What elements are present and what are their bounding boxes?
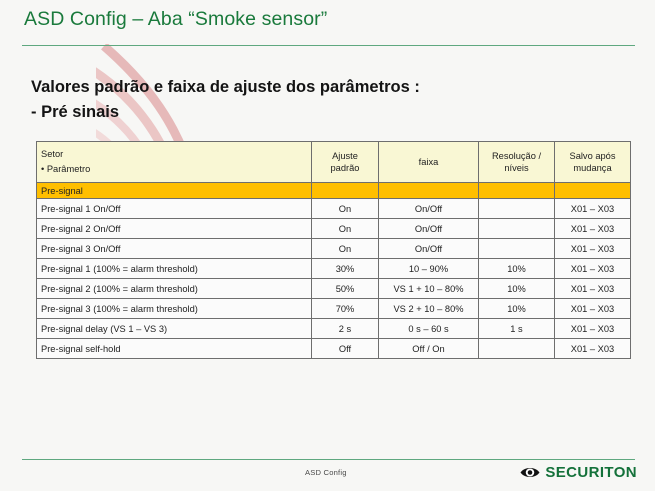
section-filler-saved xyxy=(555,183,631,199)
cell-saved: X01 – X03 xyxy=(555,299,631,319)
cell-resolution xyxy=(479,219,555,239)
cell-resolution: 10% xyxy=(479,299,555,319)
subtitle-line-2: - Pré sinais xyxy=(31,100,420,125)
table-row: Pre-signal 2 (100% = alarm threshold)50%… xyxy=(37,279,631,299)
cell-saved: X01 – X03 xyxy=(555,199,631,219)
table-section-row: Pre-signal xyxy=(37,183,631,199)
cell-parameter: Pre-signal 1 On/Off xyxy=(37,199,312,219)
subtitle-line-1: Valores padrão e faixa de ajuste dos par… xyxy=(31,75,420,100)
column-header-saved-line-1: Salvo após xyxy=(559,150,626,163)
cell-resolution: 1 s xyxy=(479,319,555,339)
cell-saved: X01 – X03 xyxy=(555,259,631,279)
cell-range: 0 s – 60 s xyxy=(379,319,479,339)
title-divider xyxy=(22,45,635,46)
cell-saved: X01 – X03 xyxy=(555,239,631,259)
cell-range: VS 2 + 10 – 80% xyxy=(379,299,479,319)
cell-default: On xyxy=(312,239,379,259)
cell-saved: X01 – X03 xyxy=(555,219,631,239)
cell-resolution: 10% xyxy=(479,259,555,279)
cell-default: 70% xyxy=(312,299,379,319)
column-header-parameter: Setor • Parâmetro xyxy=(37,142,312,183)
column-header-parameter-line-2: • Parâmetro xyxy=(41,162,307,177)
cell-range: Off / On xyxy=(379,339,479,359)
cell-range: On/Off xyxy=(379,239,479,259)
cell-default: 2 s xyxy=(312,319,379,339)
column-header-default-line-1: Ajuste xyxy=(316,150,374,163)
column-header-default: Ajuste padrão xyxy=(312,142,379,183)
cell-default: On xyxy=(312,199,379,219)
cell-resolution xyxy=(479,199,555,219)
table-row: Pre-signal 1 On/OffOnOn/OffX01 – X03 xyxy=(37,199,631,219)
table-row: Pre-signal delay (VS 1 – VS 3)2 s0 s – 6… xyxy=(37,319,631,339)
section-filler-default xyxy=(312,183,379,199)
footer-label: ASD Config xyxy=(305,468,347,477)
cell-parameter: Pre-signal 2 (100% = alarm threshold) xyxy=(37,279,312,299)
column-header-saved: Salvo após mudança xyxy=(555,142,631,183)
cell-default: 30% xyxy=(312,259,379,279)
table-row: Pre-signal 2 On/OffOnOn/OffX01 – X03 xyxy=(37,219,631,239)
table-row: Pre-signal 1 (100% = alarm threshold)30%… xyxy=(37,259,631,279)
subtitle-block: Valores padrão e faixa de ajuste dos par… xyxy=(31,75,420,125)
parameter-table: Setor • Parâmetro Ajuste padrão faixa Re… xyxy=(36,141,631,359)
cell-default: 50% xyxy=(312,279,379,299)
cell-saved: X01 – X03 xyxy=(555,339,631,359)
table-row: Pre-signal 3 On/OffOnOn/OffX01 – X03 xyxy=(37,239,631,259)
cell-range: 10 – 90% xyxy=(379,259,479,279)
cell-resolution: 10% xyxy=(479,279,555,299)
table-header-row: Setor • Parâmetro Ajuste padrão faixa Re… xyxy=(37,142,631,183)
column-header-resolution: Resolução / níveis xyxy=(479,142,555,183)
cell-default: On xyxy=(312,219,379,239)
cell-parameter: Pre-signal delay (VS 1 – VS 3) xyxy=(37,319,312,339)
section-label: Pre-signal xyxy=(37,183,312,199)
cell-default: Off xyxy=(312,339,379,359)
cell-parameter: Pre-signal 2 On/Off xyxy=(37,219,312,239)
section-filler-resolution xyxy=(479,183,555,199)
column-header-saved-line-2: mudança xyxy=(559,162,626,175)
cell-saved: X01 – X03 xyxy=(555,319,631,339)
cell-parameter: Pre-signal 1 (100% = alarm threshold) xyxy=(37,259,312,279)
column-header-range: faixa xyxy=(379,142,479,183)
cell-range: On/Off xyxy=(379,199,479,219)
cell-range: On/Off xyxy=(379,219,479,239)
cell-parameter: Pre-signal 3 On/Off xyxy=(37,239,312,259)
cell-resolution xyxy=(479,239,555,259)
table-body: Pre-signal Pre-signal 1 On/OffOnOn/OffX0… xyxy=(37,183,631,359)
table-header: Setor • Parâmetro Ajuste padrão faixa Re… xyxy=(37,142,631,183)
cell-parameter: Pre-signal self-hold xyxy=(37,339,312,359)
cell-saved: X01 – X03 xyxy=(555,279,631,299)
footer-divider xyxy=(22,459,635,460)
cell-resolution xyxy=(479,339,555,359)
column-header-resolution-line-2: níveis xyxy=(483,162,550,175)
column-header-default-line-2: padrão xyxy=(316,162,374,175)
page-title: ASD Config – Aba “Smoke sensor” xyxy=(24,8,327,31)
section-filler-range xyxy=(379,183,479,199)
cell-parameter: Pre-signal 3 (100% = alarm threshold) xyxy=(37,299,312,319)
table-row: Pre-signal 3 (100% = alarm threshold)70%… xyxy=(37,299,631,319)
cell-range: VS 1 + 10 – 80% xyxy=(379,279,479,299)
brand-logo: SECURITON xyxy=(520,464,637,481)
eye-icon xyxy=(520,466,540,479)
column-header-resolution-line-1: Resolução / xyxy=(483,150,550,163)
brand-name: SECURITON xyxy=(545,464,637,481)
table-row: Pre-signal self-holdOffOff / OnX01 – X03 xyxy=(37,339,631,359)
column-header-parameter-line-1: Setor xyxy=(41,147,307,162)
